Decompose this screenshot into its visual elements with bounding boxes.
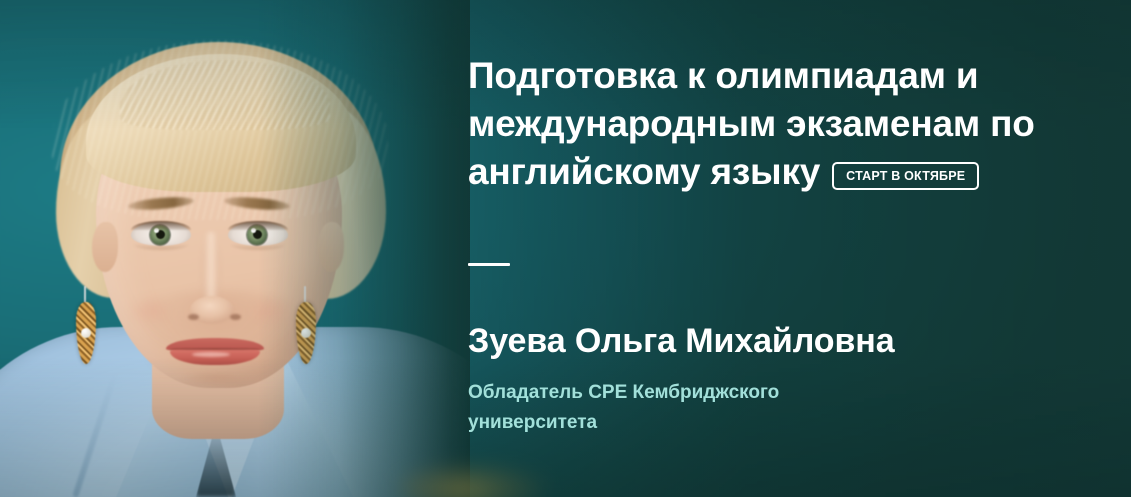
hero-content: Подготовка к олимпиадам и международным … xyxy=(468,0,1068,497)
page-title: Подготовка к олимпиадам и международным … xyxy=(468,52,1068,196)
headline-line-2: международным экзаменам по xyxy=(468,103,1035,144)
instructor-name: Зуева Ольга Михайловна xyxy=(468,320,895,362)
section-divider xyxy=(468,263,510,266)
headline-line-1: Подготовка к олимпиадам и xyxy=(468,55,978,96)
credentials-line-1: Обладатель CPE Кембриджского xyxy=(468,382,779,403)
headline-line-3: английскому языку xyxy=(468,151,820,192)
credentials-line-2: университета xyxy=(468,412,597,433)
start-date-badge[interactable]: СТАРТ В ОКТЯБРЕ xyxy=(832,162,979,190)
instructor-credentials: Обладатель CPE Кембриджского университет… xyxy=(468,378,888,438)
hero-banner: Подготовка к олимпиадам и международным … xyxy=(0,0,1131,497)
